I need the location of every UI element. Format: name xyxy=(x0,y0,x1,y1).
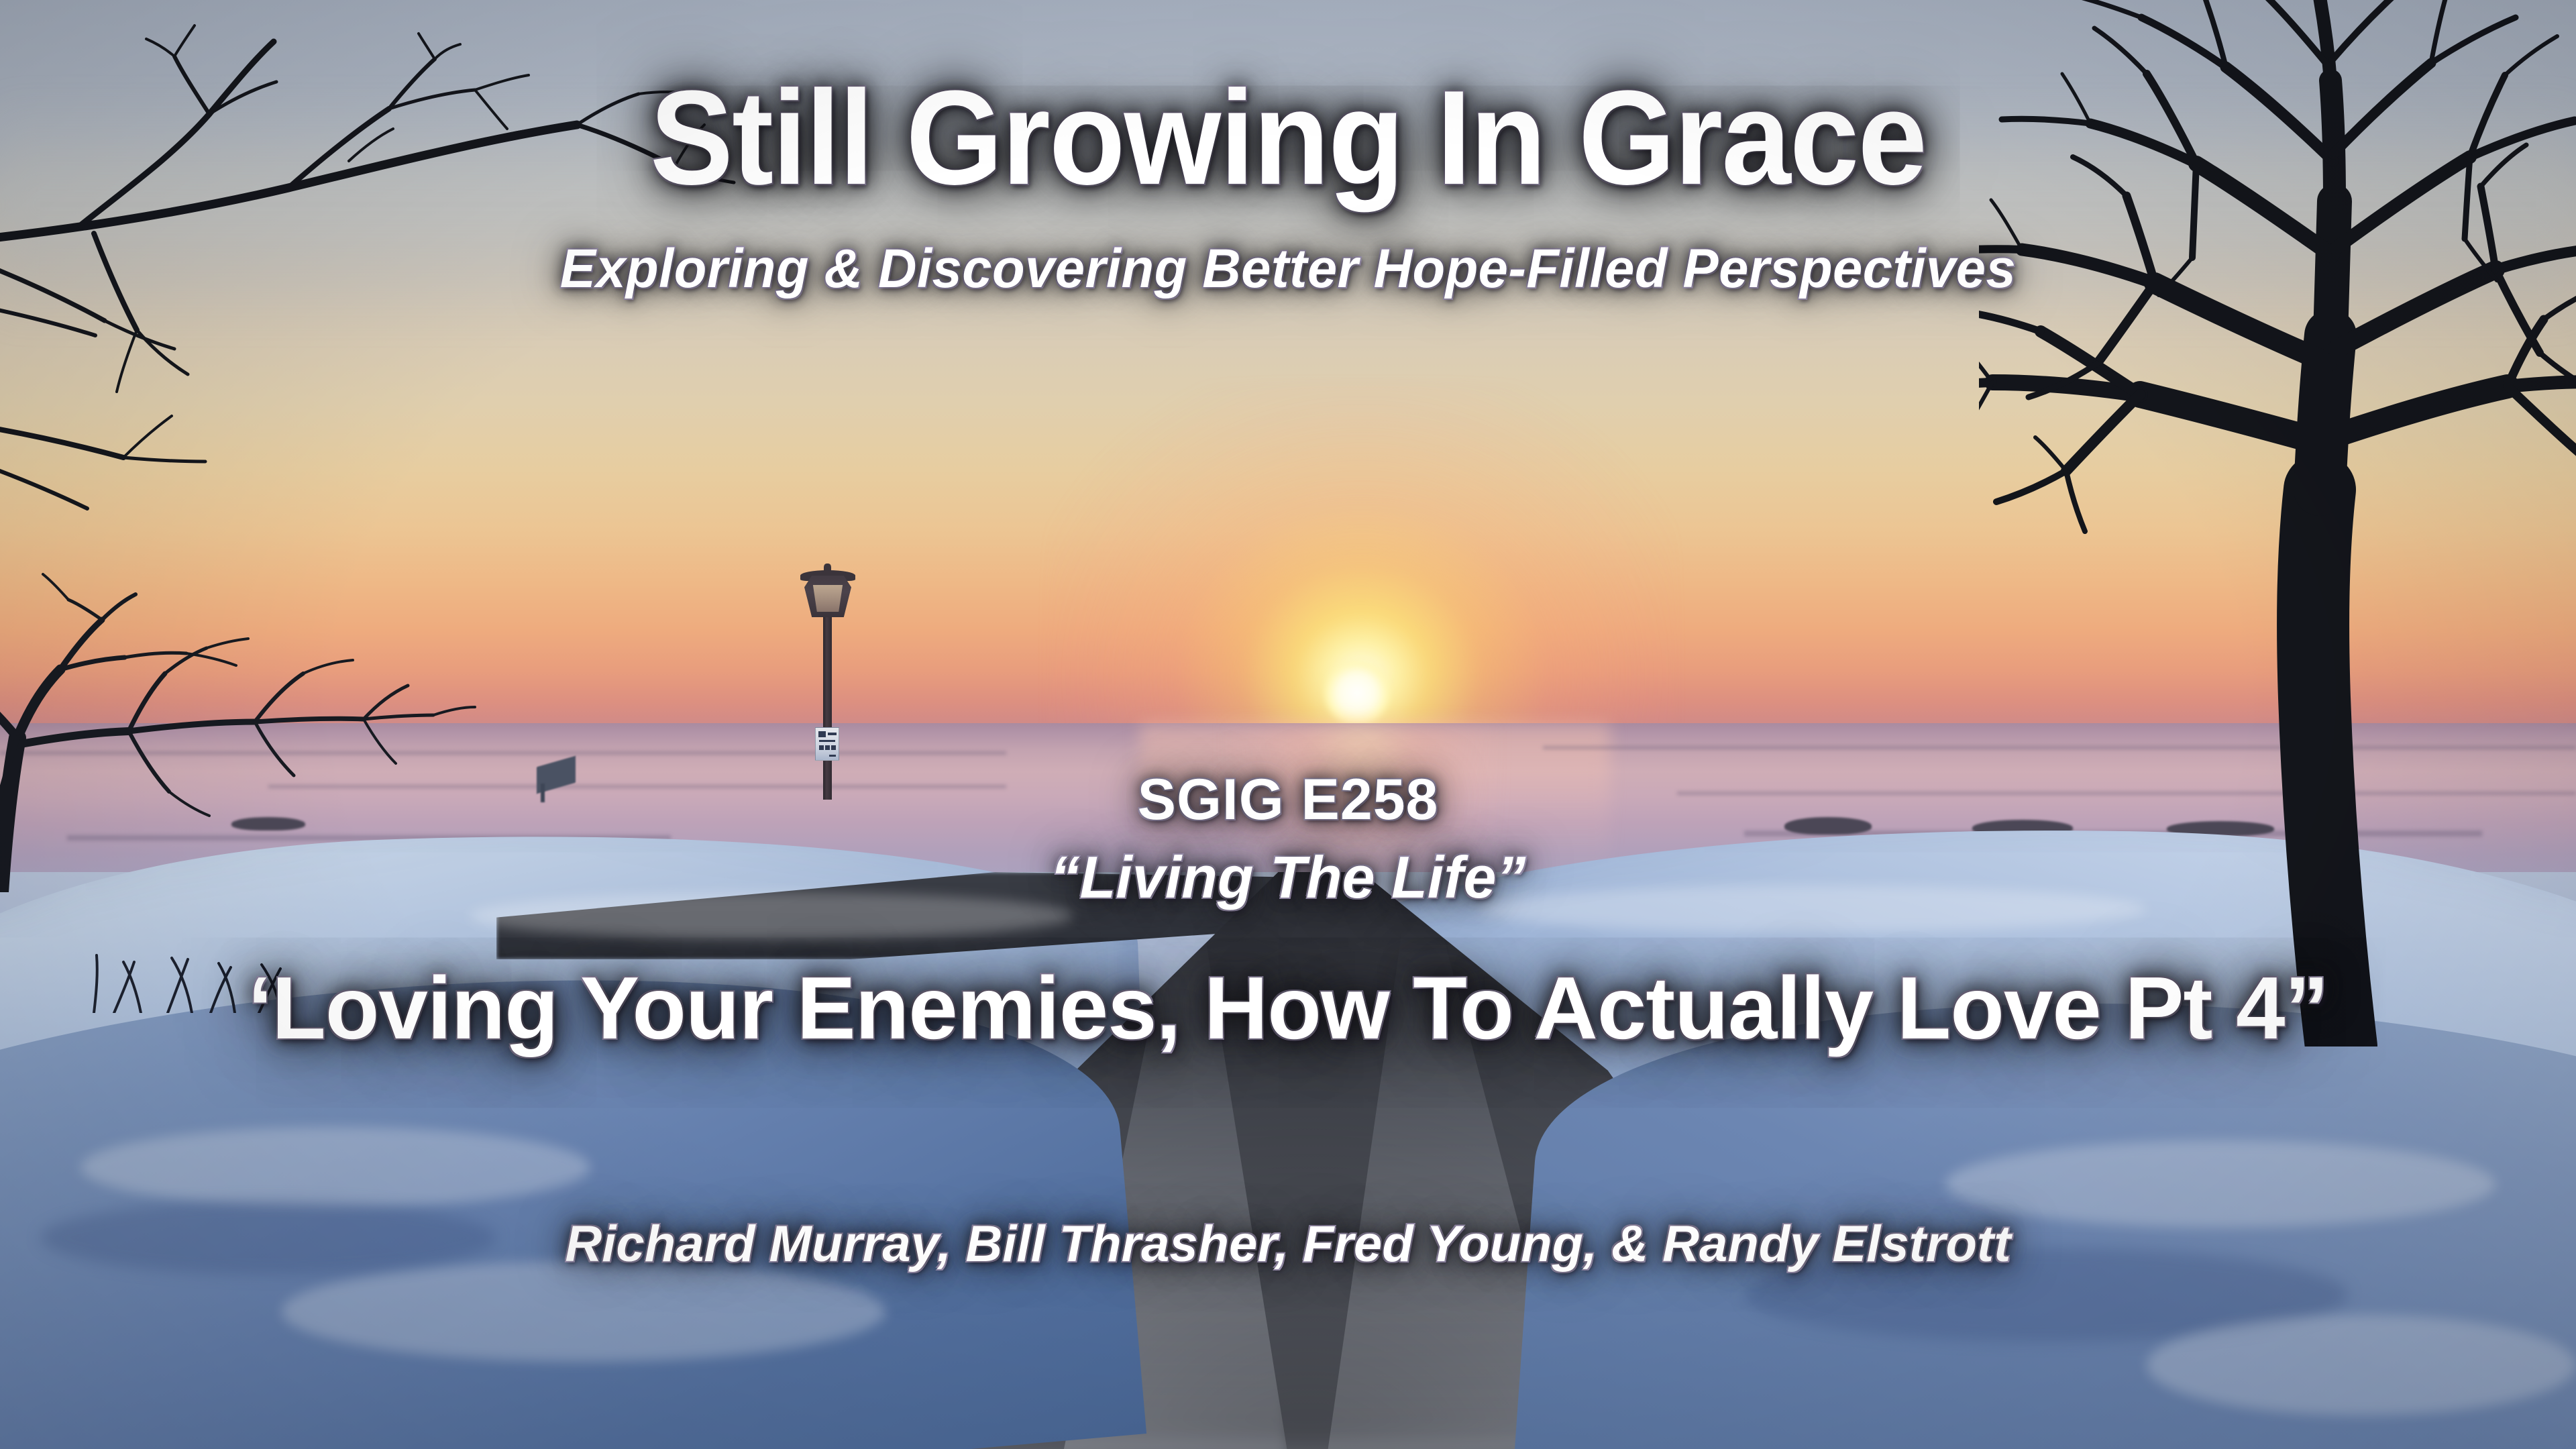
brand-subtitle: Exploring & Discovering Better Hope-Fill… xyxy=(39,240,2538,297)
brand-title: Still Growing In Grace xyxy=(90,68,2485,208)
episode-code: SGIG E258 xyxy=(0,770,2576,830)
text-overlay: Still Growing In Grace Exploring & Disco… xyxy=(0,0,2576,1449)
presenter-names: Richard Murray, Bill Thrasher, Fred Youn… xyxy=(0,1218,2576,1271)
series-name: “Living The Life” xyxy=(0,847,2576,908)
episode-title: ‘Loving Your Enemies, How To Actually Lo… xyxy=(0,959,2576,1057)
thumbnail-canvas: Still Growing In Grace Exploring & Disco… xyxy=(0,0,2576,1449)
